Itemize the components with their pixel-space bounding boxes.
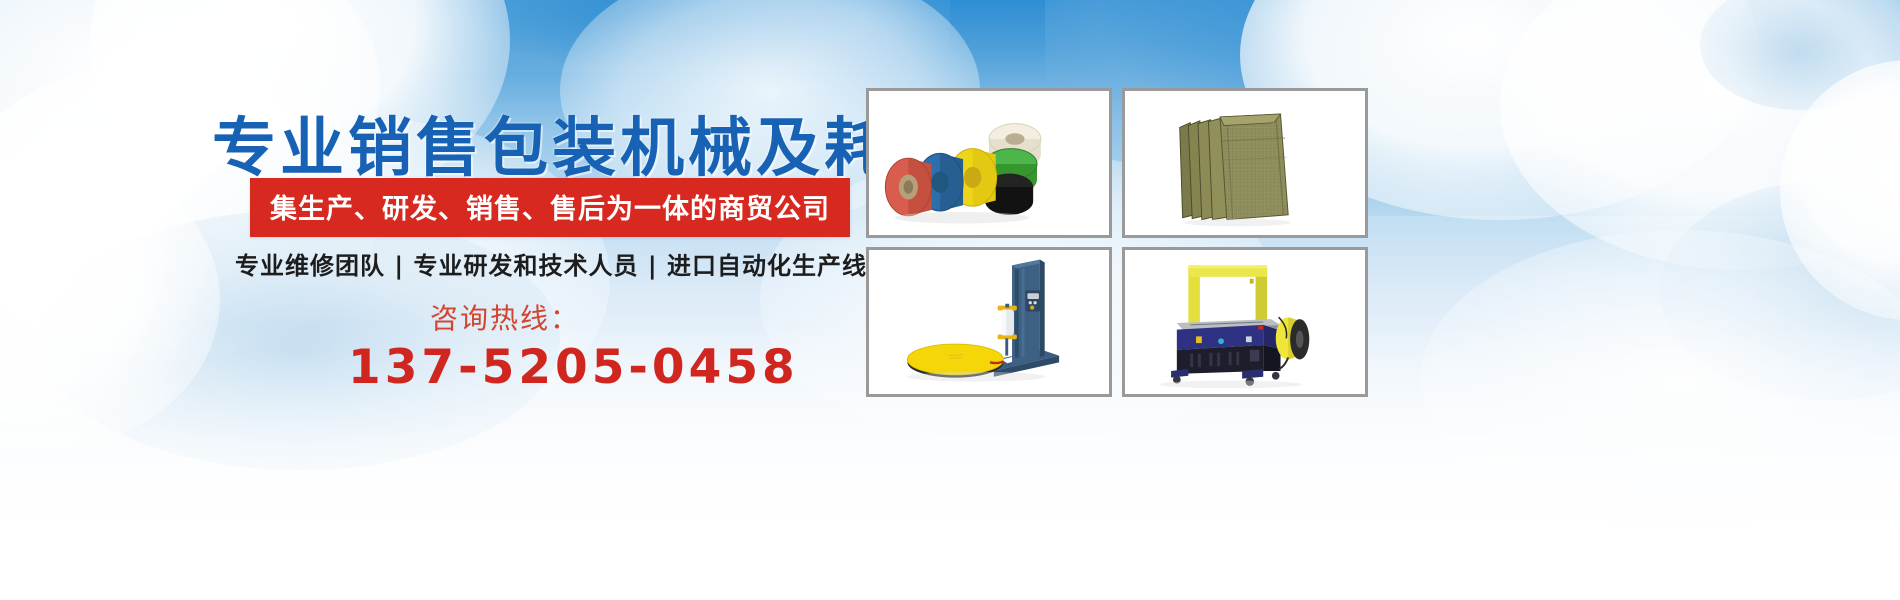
product-card-strapping-rolls[interactable] xyxy=(866,88,1112,238)
control-panel xyxy=(1025,290,1040,311)
hotline-label: 咨询热线： xyxy=(430,297,580,337)
product-card-pallet-stretch-wrapper[interactable] xyxy=(866,247,1112,397)
sack-top-sheet xyxy=(1220,114,1288,220)
banner-headline: 专业销售包装机械及耗材 xyxy=(212,97,960,189)
strapping-rolls-image xyxy=(869,91,1109,235)
product-image-grid xyxy=(866,88,1472,397)
pallet-stretch-wrapper-image xyxy=(869,250,1109,394)
warning-label xyxy=(1196,336,1202,343)
product-card-woven-sacks[interactable] xyxy=(1122,88,1368,238)
tagline-band: 集生产、研发、销售、售后为一体的商贸公司 xyxy=(250,178,850,237)
feature-subline: 专业维修团队 | 专业研发和技术人员 | 进口自动化生产线 xyxy=(235,246,867,281)
promotional-banner: 专业销售包装机械及耗材 集生产、研发、销售、售后为一体的商贸公司 专业维修团队 … xyxy=(0,0,1900,600)
machine-body-dark xyxy=(1177,345,1281,374)
product-card-strapping-machine[interactable] xyxy=(1122,247,1368,397)
hotline-number[interactable]: 137-5205-0458 xyxy=(348,340,799,395)
strapping-machine-image xyxy=(1125,250,1365,394)
indicator-button xyxy=(1218,338,1224,344)
mast-tower xyxy=(1012,260,1045,365)
tagline-text: 集生产、研发、销售、售后为一体的商贸公司 xyxy=(270,187,830,226)
woven-sacks-image xyxy=(1125,91,1365,235)
roll-red xyxy=(885,158,931,216)
